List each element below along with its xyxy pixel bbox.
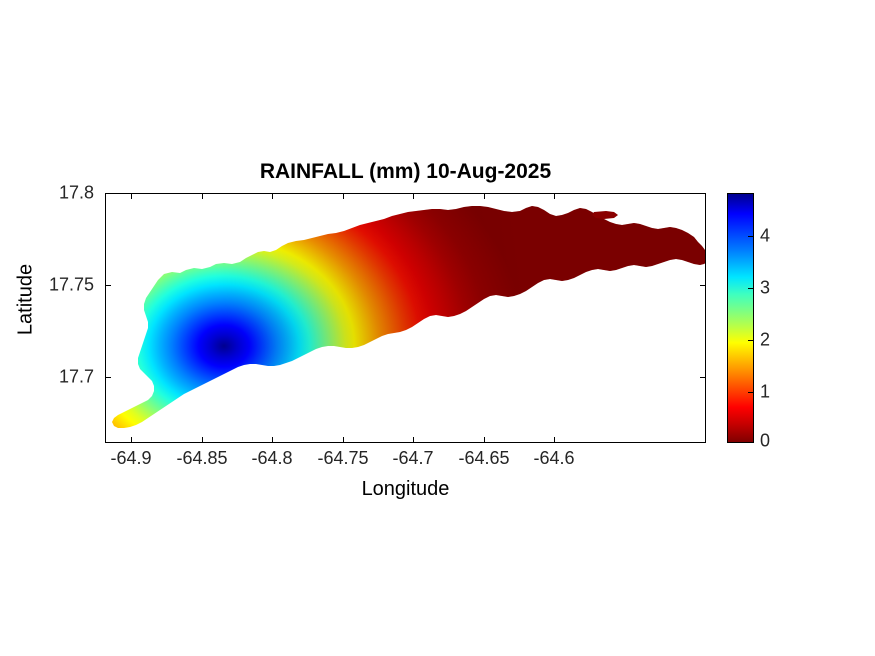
xtick-mark [131, 437, 132, 443]
ytick-mark [105, 193, 111, 194]
xtick-mark [343, 437, 344, 443]
xtick-label: -64.9 [110, 448, 151, 469]
xtick-mark [131, 193, 132, 199]
xtick-mark [343, 193, 344, 199]
colorbar-tick-mark [748, 340, 754, 341]
page-title: RAINFALL (mm) 10-Aug-2025 [105, 160, 706, 184]
xtick-mark [272, 193, 273, 199]
colorbar[interactable] [727, 193, 754, 443]
xtick-mark [413, 437, 414, 443]
xtick-mark [484, 437, 485, 443]
ytick-label: 17.8 [59, 183, 94, 204]
colorbar-tick-label: 1 [760, 382, 770, 403]
island-rainfall-field [106, 194, 706, 443]
xtick-label: -64.65 [458, 448, 509, 469]
figure-canvas: RAINFALL (mm) 10-Aug-2025 [0, 0, 875, 656]
colorbar-tick-mark [748, 288, 754, 289]
ytick-mark [105, 285, 111, 286]
colorbar-tick-label: 0 [760, 431, 770, 452]
y-axis-label: Latitude [15, 220, 38, 380]
xtick-label: -64.75 [317, 448, 368, 469]
ytick-label: 17.75 [49, 275, 94, 296]
ytick-label: 17.7 [59, 367, 94, 388]
xtick-label: -64.85 [176, 448, 227, 469]
xtick-mark [484, 193, 485, 199]
ytick-mark [105, 377, 111, 378]
map-axes[interactable] [105, 193, 706, 443]
x-axis-label: Longitude [105, 478, 706, 501]
colorbar-tick-label: 3 [760, 278, 770, 299]
colorbar-tick-mark [748, 236, 754, 237]
xtick-mark [554, 193, 555, 199]
rainfall-heatmap [106, 194, 706, 443]
xtick-label: -64.7 [392, 448, 433, 469]
ytick-mark [700, 193, 706, 194]
xtick-mark [413, 193, 414, 199]
xtick-mark [272, 437, 273, 443]
xtick-mark [202, 437, 203, 443]
xtick-label: -64.6 [533, 448, 574, 469]
xtick-mark [554, 437, 555, 443]
xtick-mark [202, 193, 203, 199]
xtick-label: -64.8 [251, 448, 292, 469]
colorbar-tick-mark [748, 392, 754, 393]
ytick-mark [700, 285, 706, 286]
colorbar-tick-label: 2 [760, 330, 770, 351]
colorbar-tick-label: 4 [760, 226, 770, 247]
ytick-mark [700, 377, 706, 378]
